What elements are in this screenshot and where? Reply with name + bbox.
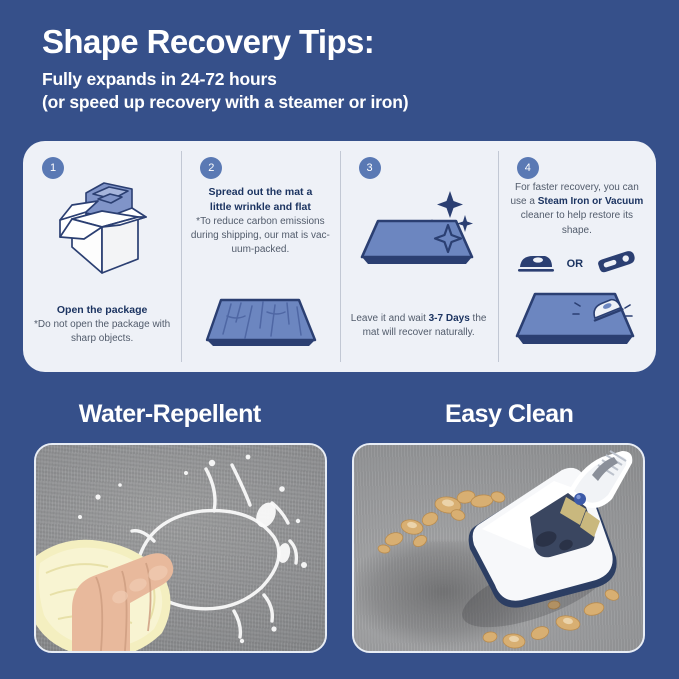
step-4-body: For faster recovery, you can use a Steam… <box>507 181 647 238</box>
step-3: 3 Leave it and wait 3-7 Days the mat wil… <box>340 141 498 372</box>
header-subtitle-line-2: (or speed up recovery with a steamer or … <box>42 91 679 114</box>
wrinkled-mat-icon <box>197 294 323 362</box>
step-2-heading-line-1: Spread out the mat a <box>190 185 330 200</box>
step-2-heading-line-2: little wrinkle and flat <box>190 200 330 215</box>
steps-card: 1 <box>23 141 656 372</box>
feature-title-easy-clean: Easy Clean <box>445 400 573 429</box>
step-number-badge: 4 <box>517 157 539 179</box>
steam-iron-icon <box>515 251 555 277</box>
photo-easy-clean <box>352 443 645 653</box>
mat-with-sparkles-icon <box>352 173 486 269</box>
step-2: 2 Spread out the mat a little wrinkle an… <box>181 141 339 372</box>
step-1-heading: Open the package <box>32 303 172 318</box>
vacuum-head-icon <box>595 250 639 278</box>
step-1-body: *Do not open the package with sharp obje… <box>32 318 172 346</box>
hand <box>44 513 214 653</box>
step-3-body-pre: Leave it and wait <box>351 313 429 324</box>
mat-with-iron-icon <box>509 286 645 350</box>
open-box-icon <box>46 175 158 279</box>
step-4: 4 For faster recovery, you can use a Ste… <box>498 141 656 372</box>
photo-water-repellent <box>34 443 327 653</box>
header-subtitle-line-1: Fully expands in 24-72 hours <box>42 68 679 91</box>
step-number-badge: 2 <box>200 157 222 179</box>
step-4-body-post: cleaner to help restore its shape. <box>521 210 633 235</box>
step-4-icon-row: OR <box>515 250 640 278</box>
page-title: Shape Recovery Tips: <box>42 24 679 61</box>
feature-titles: Water-Repellent Easy Clean <box>0 400 679 429</box>
header: Shape Recovery Tips: Fully expands in 24… <box>0 0 679 115</box>
header-subtitle: Fully expands in 24-72 hours (or speed u… <box>42 68 679 115</box>
feature-title-water-repellent: Water-Repellent <box>79 400 261 429</box>
or-label: OR <box>567 258 584 270</box>
step-4-body-bold: Steam Iron or Vacuum <box>538 196 644 207</box>
step-3-body-bold: 3-7 Days <box>429 313 470 324</box>
step-3-body: Leave it and wait 3-7 Days the mat will … <box>349 312 489 340</box>
vacuum-cleaner <box>354 445 643 651</box>
step-1: 1 <box>23 141 181 372</box>
step-2-body: *To reduce carbon emissions during shipp… <box>190 215 330 258</box>
feature-photos <box>34 443 645 653</box>
